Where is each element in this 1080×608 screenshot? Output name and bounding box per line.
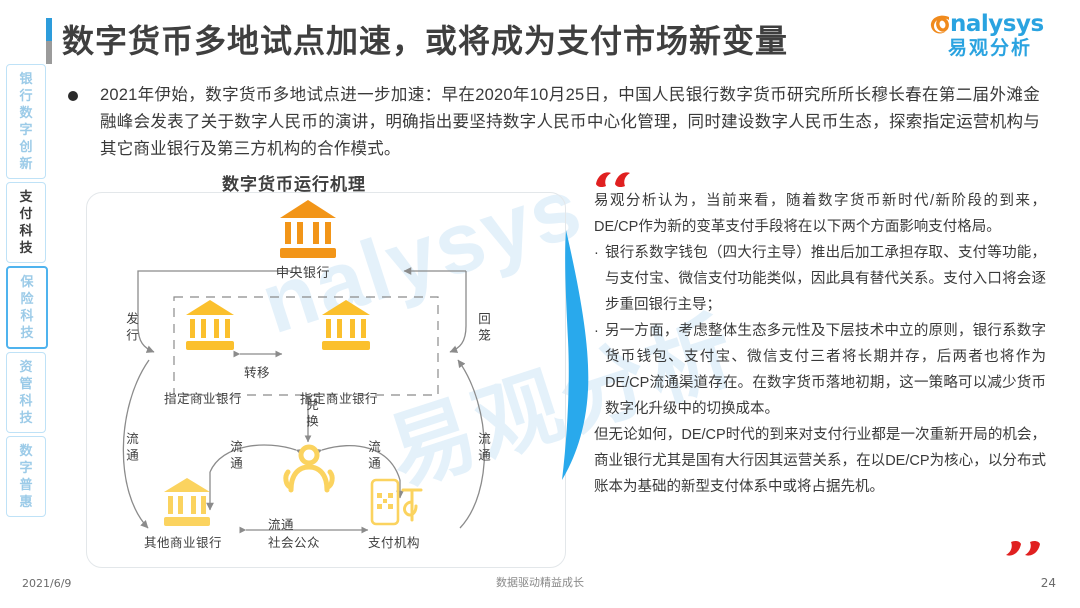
- node-label-central-bank: 中央银行: [276, 262, 330, 281]
- edge-label-circulate-bottom: 流通: [268, 514, 294, 533]
- page-title: 数字货币多地试点加速，或将成为支付市场新变量: [62, 16, 788, 62]
- diagram-title: 数字货币运行机理: [222, 170, 366, 195]
- analysis-outro: 但无论如何，DE/CP时代的到来对支付行业都是一次重新开局的机会，商业银行尤其是…: [594, 422, 1046, 500]
- tab-char: 字: [7, 459, 45, 476]
- tab-char: 行: [7, 87, 45, 104]
- intro-bullet-text: 2021年伊始，数字货币多地试点进一步加速：早在2020年10月25日，中国人民…: [100, 82, 1040, 163]
- quote-close-icon: [1004, 538, 1044, 563]
- node-label-public: 社会公众: [268, 532, 320, 551]
- analysis-bullet-2: · 另一方面，考虑整体生态多元性及下层技术中立的原则，银行系数字货币钱包、支付宝…: [594, 318, 1046, 422]
- sidebar-item-asset-management-tech[interactable]: 资 管 科 技: [6, 352, 46, 433]
- brand-logo: nalysys 易观分析: [924, 10, 1056, 62]
- tab-char: 支: [7, 188, 45, 205]
- node-label-designated-bank-left: 指定商业银行: [164, 388, 242, 407]
- sidebar-item-bank-digital-innovation[interactable]: 银 行 数 字 创 新: [6, 64, 46, 179]
- tab-char: 创: [7, 138, 45, 155]
- intro-bullet: 2021年伊始，数字货币多地试点进一步加速：早在2020年10月25日，中国人民…: [68, 82, 1040, 163]
- tab-char: 科: [8, 307, 46, 324]
- sidebar-item-insurance-tech[interactable]: 保 险 科 技: [6, 266, 48, 349]
- footer-slogan: 数据驱动精益成长: [496, 574, 584, 590]
- edge-label-circulate-public-left: 流通: [226, 440, 245, 473]
- tab-char: 惠: [7, 493, 45, 510]
- tab-char: 技: [7, 239, 45, 256]
- logo-wordmark: nalysys: [950, 11, 1044, 37]
- tab-char: 数: [7, 104, 45, 121]
- title-accent-bar: [46, 18, 52, 64]
- analysis-intro: 易观分析认为，当前来看，随着数字货币新时代/新阶段的到来，DE/CP作为新的变革…: [594, 188, 1046, 240]
- tab-char: 科: [7, 222, 45, 239]
- analysis-bullet-1: · 银行系数字钱包（四大行主导）推出后加工承担存取、支付等功能，与支付宝、微信支…: [594, 240, 1046, 318]
- node-label-payment-org: 支付机构: [368, 532, 420, 551]
- tab-char: 付: [7, 205, 45, 222]
- tab-char: 保: [8, 273, 46, 290]
- footer-date: 2021/6/9: [22, 577, 71, 590]
- sidebar: 银 行 数 字 创 新 支 付 科 技 保 险 科 技 资 管 科 技 数 字: [6, 64, 46, 520]
- edge-label-issue: 发行: [122, 312, 141, 345]
- title-accent-bottom: [46, 41, 52, 64]
- edge-label-circulate-left: 流通: [122, 432, 141, 465]
- tab-char: 技: [7, 409, 45, 426]
- tab-char: 技: [8, 324, 46, 341]
- title-accent-top: [46, 18, 52, 41]
- quote-open-icon: [594, 170, 634, 195]
- tab-char: 数: [7, 442, 45, 459]
- edge-label-exchange: 兑换: [302, 398, 321, 431]
- tab-char: 新: [7, 155, 45, 172]
- edge-label-circulate-right: 流通: [474, 432, 493, 465]
- tab-char: 普: [7, 476, 45, 493]
- tab-char: 管: [7, 375, 45, 392]
- analysis-bullet-1-text: 银行系数字钱包（四大行主导）推出后加工承担存取、支付等功能，与支付宝、微信支付功…: [605, 240, 1046, 318]
- edge-label-withdraw: 回笼: [474, 312, 493, 345]
- analysis-panel: 易观分析认为，当前来看，随着数字货币新时代/新阶段的到来，DE/CP作为新的变革…: [594, 188, 1046, 500]
- analysis-bullet-2-text: 另一方面，考虑整体生态多元性及下层技术中立的原则，银行系数字货币钱包、支付宝、微…: [605, 318, 1046, 422]
- tab-char: 资: [7, 358, 45, 375]
- edge-label-transfer: 转移: [244, 362, 270, 381]
- list-bullet-icon: ·: [594, 318, 605, 422]
- sidebar-item-payment-tech[interactable]: 支 付 科 技: [6, 182, 46, 263]
- tab-char: 险: [8, 290, 46, 307]
- node-label-other-bank: 其他商业银行: [144, 532, 222, 551]
- list-bullet-icon: ·: [594, 240, 605, 318]
- edge-label-circulate-public-right: 流通: [364, 440, 383, 473]
- footer-page-number: 24: [1041, 576, 1056, 590]
- tab-char: 字: [7, 121, 45, 138]
- currency-flow-diagram: 中央银行 指定商业银行 指定商业银行 转移 兑换 发行 回笼 流通 流通 流通 …: [86, 192, 564, 566]
- slide: nalysys 易观分析 数字货币多地试点加速，或将成为支付市场新变量 naly…: [0, 0, 1080, 608]
- tab-char: 银: [7, 70, 45, 87]
- sidebar-item-digital-inclusive-finance[interactable]: 数 字 普 惠: [6, 436, 46, 517]
- bullet-dot-icon: [68, 91, 78, 101]
- tab-char: 科: [7, 392, 45, 409]
